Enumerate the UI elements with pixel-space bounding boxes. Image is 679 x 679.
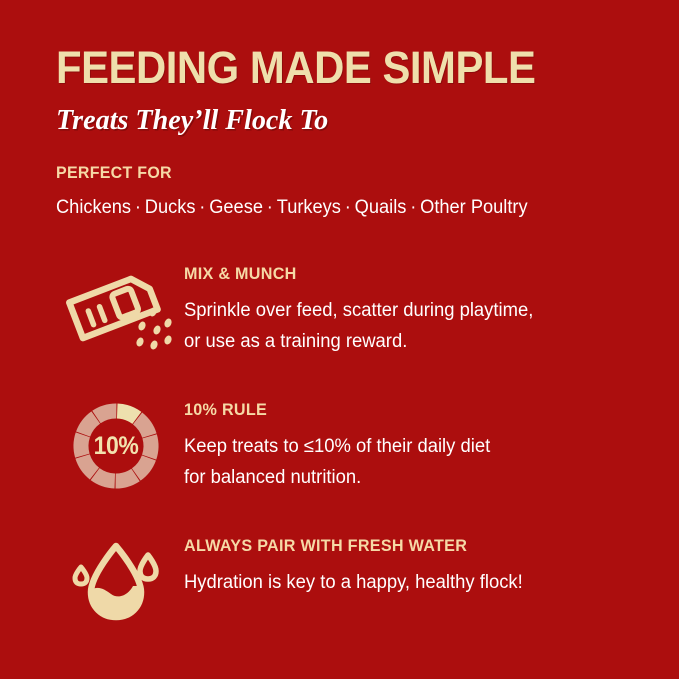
species-item-quails: Quails	[355, 197, 407, 218]
ten-percent-donut-icon: 10%	[52, 392, 180, 500]
tip-heading: MIX & MUNCH	[184, 264, 654, 284]
perfect-for-label: PERFECT FOR	[56, 163, 620, 183]
header-block: FEEDING MADE SIMPLE Treats They’ll Flock…	[56, 44, 656, 220]
tip-line: for balanced nutrition.	[184, 462, 664, 493]
tip-line: Hydration is key to a happy, healthy flo…	[184, 567, 664, 598]
species-separator: ·	[406, 197, 420, 218]
species-item-chickens: Chickens	[56, 197, 131, 218]
tip-line: or use as a training reward.	[184, 326, 664, 357]
tip-row-fresh-water: ALWAYS PAIR WITH FRESH WATER Hydration i…	[0, 528, 679, 636]
species-item-other-poultry: Other Poultry	[420, 197, 527, 218]
water-droplet-icon	[52, 528, 180, 636]
tip-row-ten-percent-rule: 10% 10% RULE Keep treats to ≤10% of thei…	[0, 392, 679, 500]
species-item-geese: Geese	[209, 197, 263, 218]
page-subtitle: Treats They’ll Flock To	[56, 103, 638, 137]
tip-body: MIX & MUNCH Sprinkle over feed, scatter …	[180, 256, 679, 357]
species-separator: ·	[263, 197, 277, 218]
tips-list: MIX & MUNCH Sprinkle over feed, scatter …	[0, 256, 679, 636]
page-title: FEEDING MADE SIMPLE	[56, 44, 614, 92]
species-separator: ·	[131, 197, 145, 218]
tip-row-mix-and-munch: MIX & MUNCH Sprinkle over feed, scatter …	[0, 256, 679, 364]
donut-ring-label: 10%	[68, 394, 164, 498]
species-separator: ·	[341, 197, 355, 218]
donut-ring: 10%	[64, 394, 168, 498]
tip-body: 10% RULE Keep treats to ≤10% of their da…	[180, 392, 679, 493]
tip-heading: 10% RULE	[184, 400, 654, 420]
species-separator: ·	[195, 197, 209, 218]
tip-line: Keep treats to ≤10% of their daily diet	[184, 431, 664, 462]
tip-body: ALWAYS PAIR WITH FRESH WATER Hydration i…	[180, 528, 679, 598]
feeding-infographic: FEEDING MADE SIMPLE Treats They’ll Flock…	[0, 0, 679, 679]
tip-line: Sprinkle over feed, scatter during playt…	[184, 295, 664, 326]
treat-bag-sprinkle-icon	[52, 256, 180, 364]
species-item-ducks: Ducks	[145, 197, 196, 218]
species-list: Chickens·Ducks·Geese·Turkeys·Quails·Othe…	[56, 196, 632, 220]
tip-heading: ALWAYS PAIR WITH FRESH WATER	[184, 536, 654, 556]
species-item-turkeys: Turkeys	[277, 197, 341, 218]
